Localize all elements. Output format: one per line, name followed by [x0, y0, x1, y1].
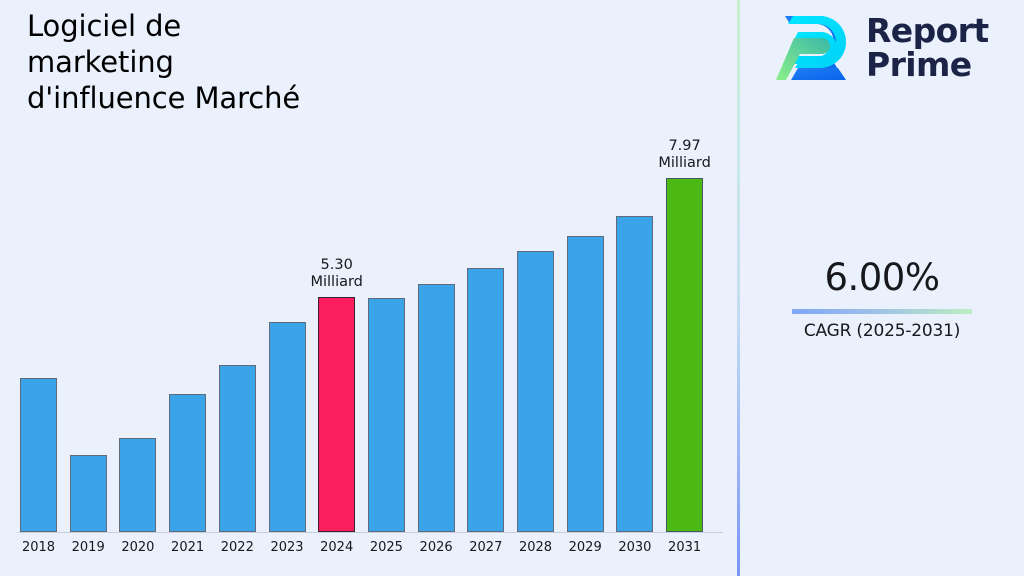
cagr-divider-rule	[792, 309, 972, 314]
brand-name: Report Prime	[866, 14, 989, 82]
x-tick-2025: 2025	[368, 540, 405, 555]
bar-2027	[467, 268, 504, 532]
x-axis-line	[18, 532, 723, 533]
x-tick-2028: 2028	[517, 540, 554, 555]
x-tick-2020: 2020	[119, 540, 156, 555]
bar-2029	[567, 236, 604, 532]
x-tick-2026: 2026	[418, 540, 455, 555]
bar-2026	[418, 284, 455, 532]
bar-2028	[517, 251, 554, 532]
plot-area: 5.30 Milliard7.97 Milliard 2018201920202…	[0, 0, 737, 576]
bar-2020	[119, 438, 156, 532]
x-tick-2030: 2030	[616, 540, 653, 555]
x-tick-2023: 2023	[269, 540, 306, 555]
bar-2022	[219, 365, 256, 532]
x-tick-2021: 2021	[169, 540, 206, 555]
bar-2021	[169, 394, 206, 532]
brand-logo: Report Prime	[774, 10, 989, 86]
chart-infographic: Logiciel de marketing d'influence Marché…	[0, 0, 1024, 576]
x-tick-2029: 2029	[567, 540, 604, 555]
bar-2024	[318, 297, 355, 532]
bar-2030	[616, 216, 653, 532]
bar-2025	[368, 298, 405, 532]
chart-panel: Logiciel de marketing d'influence Marché…	[0, 0, 737, 576]
bar-2018	[20, 378, 57, 532]
cagr-value: 6.00%	[740, 256, 1024, 300]
bar-value-label-2031: 7.97 Milliard	[640, 138, 730, 172]
x-tick-2022: 2022	[219, 540, 256, 555]
brand-panel: Report Prime 6.00% CAGR (2025-2031)	[740, 0, 1024, 576]
bar-value-label-2024: 5.30 Milliard	[292, 257, 382, 291]
x-tick-2019: 2019	[70, 540, 107, 555]
x-tick-2024: 2024	[318, 540, 355, 555]
bar-2023	[269, 322, 306, 532]
bar-2031	[666, 178, 703, 532]
report-prime-r-mark-icon	[774, 10, 852, 86]
bar-2019	[70, 455, 107, 532]
x-tick-2018: 2018	[20, 540, 57, 555]
x-tick-2031: 2031	[666, 540, 703, 555]
x-tick-2027: 2027	[467, 540, 504, 555]
cagr-label: CAGR (2025-2031)	[740, 321, 1024, 342]
cagr-block: 6.00% CAGR (2025-2031)	[740, 256, 1024, 342]
